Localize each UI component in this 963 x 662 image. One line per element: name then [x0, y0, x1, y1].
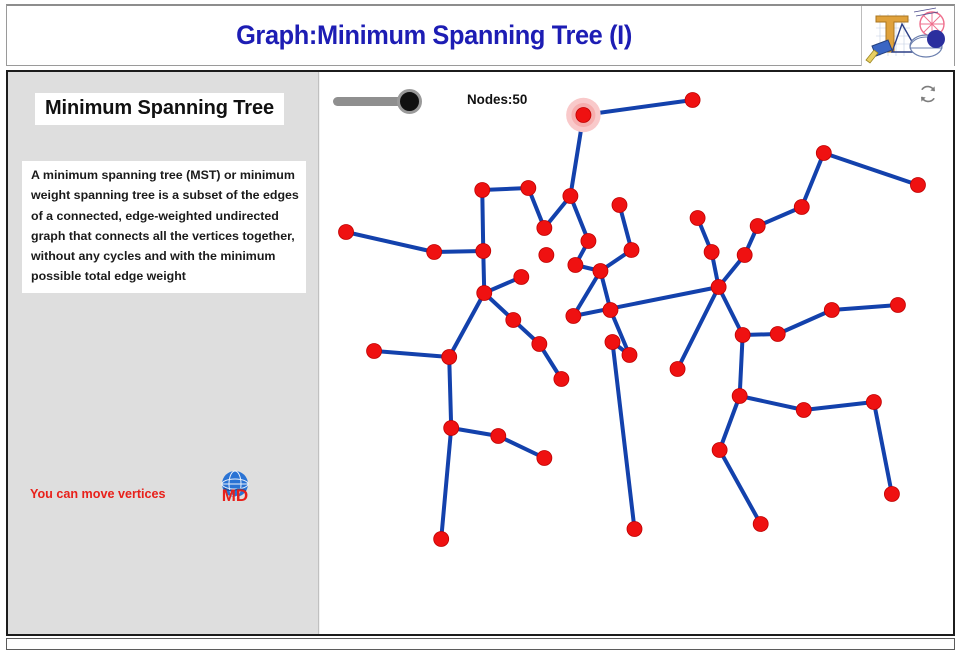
graph-node[interactable] [866, 395, 881, 410]
graph-node[interactable] [444, 421, 459, 436]
graph-node[interactable] [704, 245, 719, 260]
move-vertices-hint: You can move vertices [30, 487, 166, 501]
graph-node[interactable] [910, 178, 925, 193]
sidebar-description: A minimum spanning tree (MST) or minimum… [22, 161, 306, 293]
graph-node[interactable] [477, 286, 492, 301]
graph-node[interactable] [434, 532, 449, 547]
graph-node[interactable] [532, 337, 547, 352]
graph-nodes[interactable] [339, 93, 926, 547]
graph-node[interactable] [884, 487, 899, 502]
graph-edge [612, 342, 634, 529]
graph-node[interactable] [770, 327, 785, 342]
graph-node[interactable] [566, 309, 581, 324]
graph-node[interactable] [514, 270, 529, 285]
graph-node[interactable] [563, 189, 578, 204]
graph-edge [804, 402, 874, 410]
graph-edge [778, 310, 832, 334]
graph-node[interactable] [624, 243, 639, 258]
graph-edge [874, 402, 892, 494]
graph-node[interactable] [576, 108, 591, 123]
graph-node[interactable] [605, 335, 620, 350]
main-content: Minimum Spanning Tree A minimum spanning… [6, 70, 955, 636]
graph-node[interactable] [506, 313, 521, 328]
graph-edge [573, 287, 718, 316]
graph-node[interactable] [824, 303, 839, 318]
graph-node[interactable] [476, 244, 491, 259]
graph-node[interactable] [711, 280, 726, 295]
graph-node[interactable] [890, 298, 905, 313]
graph-edge [832, 305, 898, 310]
app-window: Graph:Minimum Spanning Tree (I) [0, 0, 963, 662]
header-bar: Graph:Minimum Spanning Tree (I) [6, 4, 955, 66]
graph-edge [449, 357, 451, 428]
graph-node[interactable] [603, 303, 618, 318]
sidebar-heading: Minimum Spanning Tree [35, 93, 284, 125]
graph-node[interactable] [816, 146, 831, 161]
graph-node[interactable] [690, 211, 705, 226]
graph-edge [740, 335, 743, 396]
graph-node[interactable] [537, 451, 552, 466]
svg-text:MD: MD [222, 486, 248, 505]
graph-node[interactable] [491, 429, 506, 444]
graph-edge [374, 351, 449, 357]
graph-node[interactable] [521, 181, 536, 196]
graph-edge [346, 232, 434, 252]
graph-edge [678, 287, 719, 369]
graph-edge [740, 396, 804, 410]
graph-edge [719, 287, 743, 335]
graph-node[interactable] [670, 362, 685, 377]
graph-node[interactable] [568, 258, 583, 273]
graph-edges [346, 100, 918, 539]
graph-node[interactable] [427, 245, 442, 260]
graph-node[interactable] [794, 200, 809, 215]
graph-node[interactable] [581, 234, 596, 249]
graph-edge [482, 190, 483, 251]
graph-node[interactable] [339, 225, 354, 240]
graph-node[interactable] [732, 389, 747, 404]
md-globe-logo: MD [216, 468, 254, 506]
graph-node[interactable] [612, 198, 627, 213]
graph-edge [720, 450, 761, 524]
graph-canvas-pane[interactable]: Nodes:50 [319, 72, 953, 634]
graph-node[interactable] [753, 517, 768, 532]
bottom-status-strip [6, 638, 955, 650]
graph-edge [824, 153, 918, 185]
graph-node[interactable] [712, 443, 727, 458]
graph-node[interactable] [593, 264, 608, 279]
graph-node[interactable] [750, 219, 765, 234]
graph-node[interactable] [537, 221, 552, 236]
graph-node[interactable] [475, 183, 490, 198]
page-title: Graph:Minimum Spanning Tree (I) [33, 20, 836, 51]
graph-node[interactable] [622, 348, 637, 363]
drafting-tools-clipart [861, 6, 954, 66]
graph-edge [441, 428, 451, 539]
graph-node[interactable] [442, 350, 457, 365]
sidebar-panel: Minimum Spanning Tree A minimum spanning… [8, 72, 319, 634]
graph-edge [720, 396, 740, 450]
graph-edge [449, 293, 484, 357]
graph-node[interactable] [627, 522, 642, 537]
graph-node[interactable] [539, 248, 554, 263]
mst-graph[interactable] [320, 72, 953, 634]
graph-node[interactable] [737, 248, 752, 263]
graph-node[interactable] [735, 328, 750, 343]
graph-node[interactable] [796, 403, 811, 418]
graph-node[interactable] [554, 372, 569, 387]
graph-node[interactable] [685, 93, 700, 108]
graph-node[interactable] [367, 344, 382, 359]
graph-edge [802, 153, 824, 207]
